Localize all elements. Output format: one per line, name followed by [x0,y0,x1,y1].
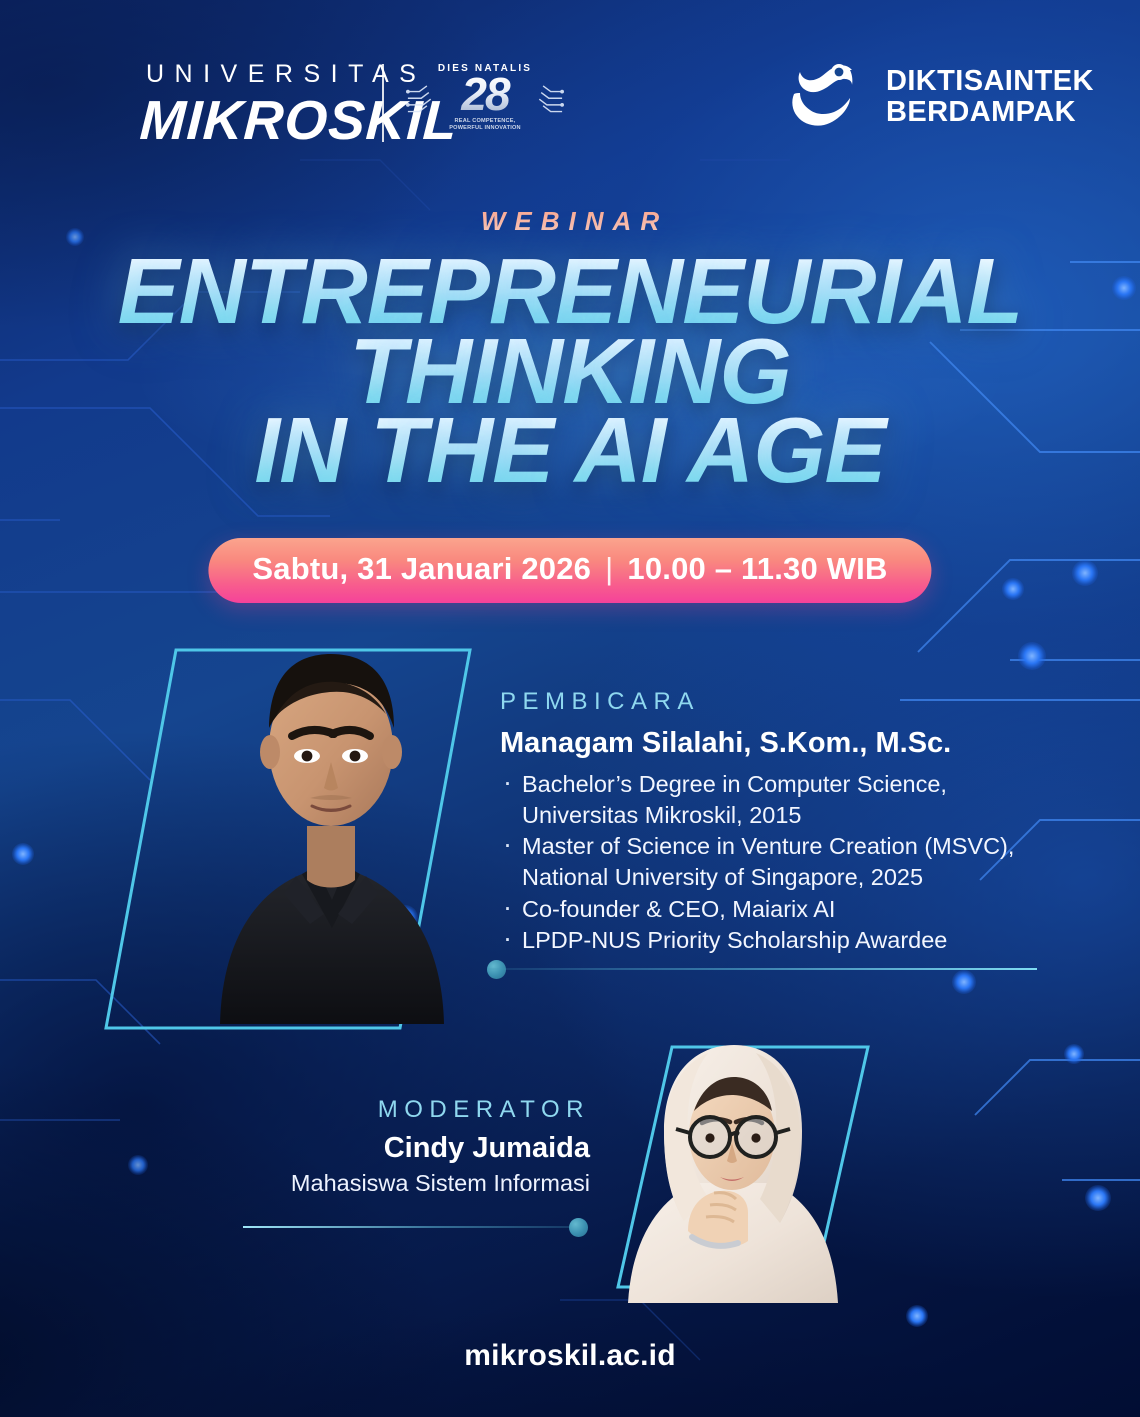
poster-header: UNIVERSITAS MIKROSKIL DIES NATALIS 28 [0,0,1140,185]
diktisaintek-logo: DIKTISAINTEK BERDAMPAK [782,56,1094,138]
speaker-photo [88,600,488,1040]
schedule-separator: | [591,551,627,586]
moderator-eyebrow-label: MODERATOR [150,1098,590,1122]
moderator-role: Mahasiswa Sistem Informasi [150,1169,590,1197]
logo-divider [382,64,384,142]
page-title: ENTREPRENEURIAL THINKING IN THE AI AGE [0,249,1140,494]
speaker-eyebrow-label: PEMBICARA [500,690,1060,714]
moderator-divider [243,1222,588,1224]
circuit-node-glow [1064,1044,1084,1064]
title-block: WEBINAR ENTREPRENEURIAL THINKING IN THE … [0,206,1140,494]
speaker-credentials-list: Bachelor’s Degree in Computer Science, U… [500,769,1060,955]
moderator-name: Cindy Jumaida [150,1133,590,1165]
schedule-badge: Sabtu, 31 Januari 2026|10.00 – 11.30 WIB [208,538,931,603]
moderator-photo [600,1025,885,1310]
title-line-3: IN THE AI AGE [0,408,1140,494]
circuit-node-glow [1085,1185,1111,1211]
dies-natalis-logo: DIES NATALIS 28 REAL COMPETENCE, POWERFU… [410,64,560,144]
circuit-node-glow [1072,560,1098,586]
circuit-ornament-left-icon [406,82,444,124]
speaker-name: Managam Silalahi, S.Kom., M.Sc. [500,727,1060,760]
website-url: mikroskil.ac.id [0,1339,1140,1373]
schedule-date: Sabtu, 31 Januari 2026 [252,551,591,586]
event-type-kicker: WEBINAR [9,206,1140,237]
webinar-poster: UNIVERSITAS MIKROSKIL DIES NATALIS 28 [0,0,1140,1417]
divider-line [243,1226,588,1228]
circuit-node-glow [128,1155,148,1175]
circuit-node-glow [952,970,976,994]
circuit-node-glow [12,843,34,865]
schedule-time: 10.00 – 11.30 WIB [627,551,887,586]
divider-line [487,968,1037,970]
dies-natalis-tagline-line2: POWERFUL INNOVATION [449,125,521,131]
moderator-portrait-illustration [622,1031,842,1303]
diktisaintek-wordmark: DIKTISAINTEK BERDAMPAK [886,66,1094,128]
moderator-info: MODERATOR Cindy Jumaida Mahasiswa Sistem… [150,1098,590,1197]
circuit-node-glow [1018,642,1046,670]
list-item: Master of Science in Venture Creation (M… [500,831,1060,892]
diktisaintek-line1: DIKTISAINTEK [886,66,1094,97]
circuit-node-glow [1002,578,1024,600]
diktisaintek-line2: BERDAMPAK [886,97,1094,128]
dies-natalis-tagline-line1: REAL COMPETENCE, [455,118,516,124]
circuit-node-glow [906,1305,928,1327]
circuit-ornament-right-icon [526,82,564,124]
speaker-info: PEMBICARA Managam Silalahi, S.Kom., M.Sc… [500,690,1060,957]
list-item: Co-founder & CEO, Maiarix AI [500,894,1060,925]
list-item: LPDP-NUS Priority Scholarship Awardee [500,925,1060,956]
speaker-portrait-illustration [206,612,456,1024]
diktisaintek-swoosh-icon [782,56,868,138]
divider-knob [569,1218,588,1237]
speaker-divider [487,964,1037,966]
list-item: Bachelor’s Degree in Computer Science, U… [500,769,1060,830]
